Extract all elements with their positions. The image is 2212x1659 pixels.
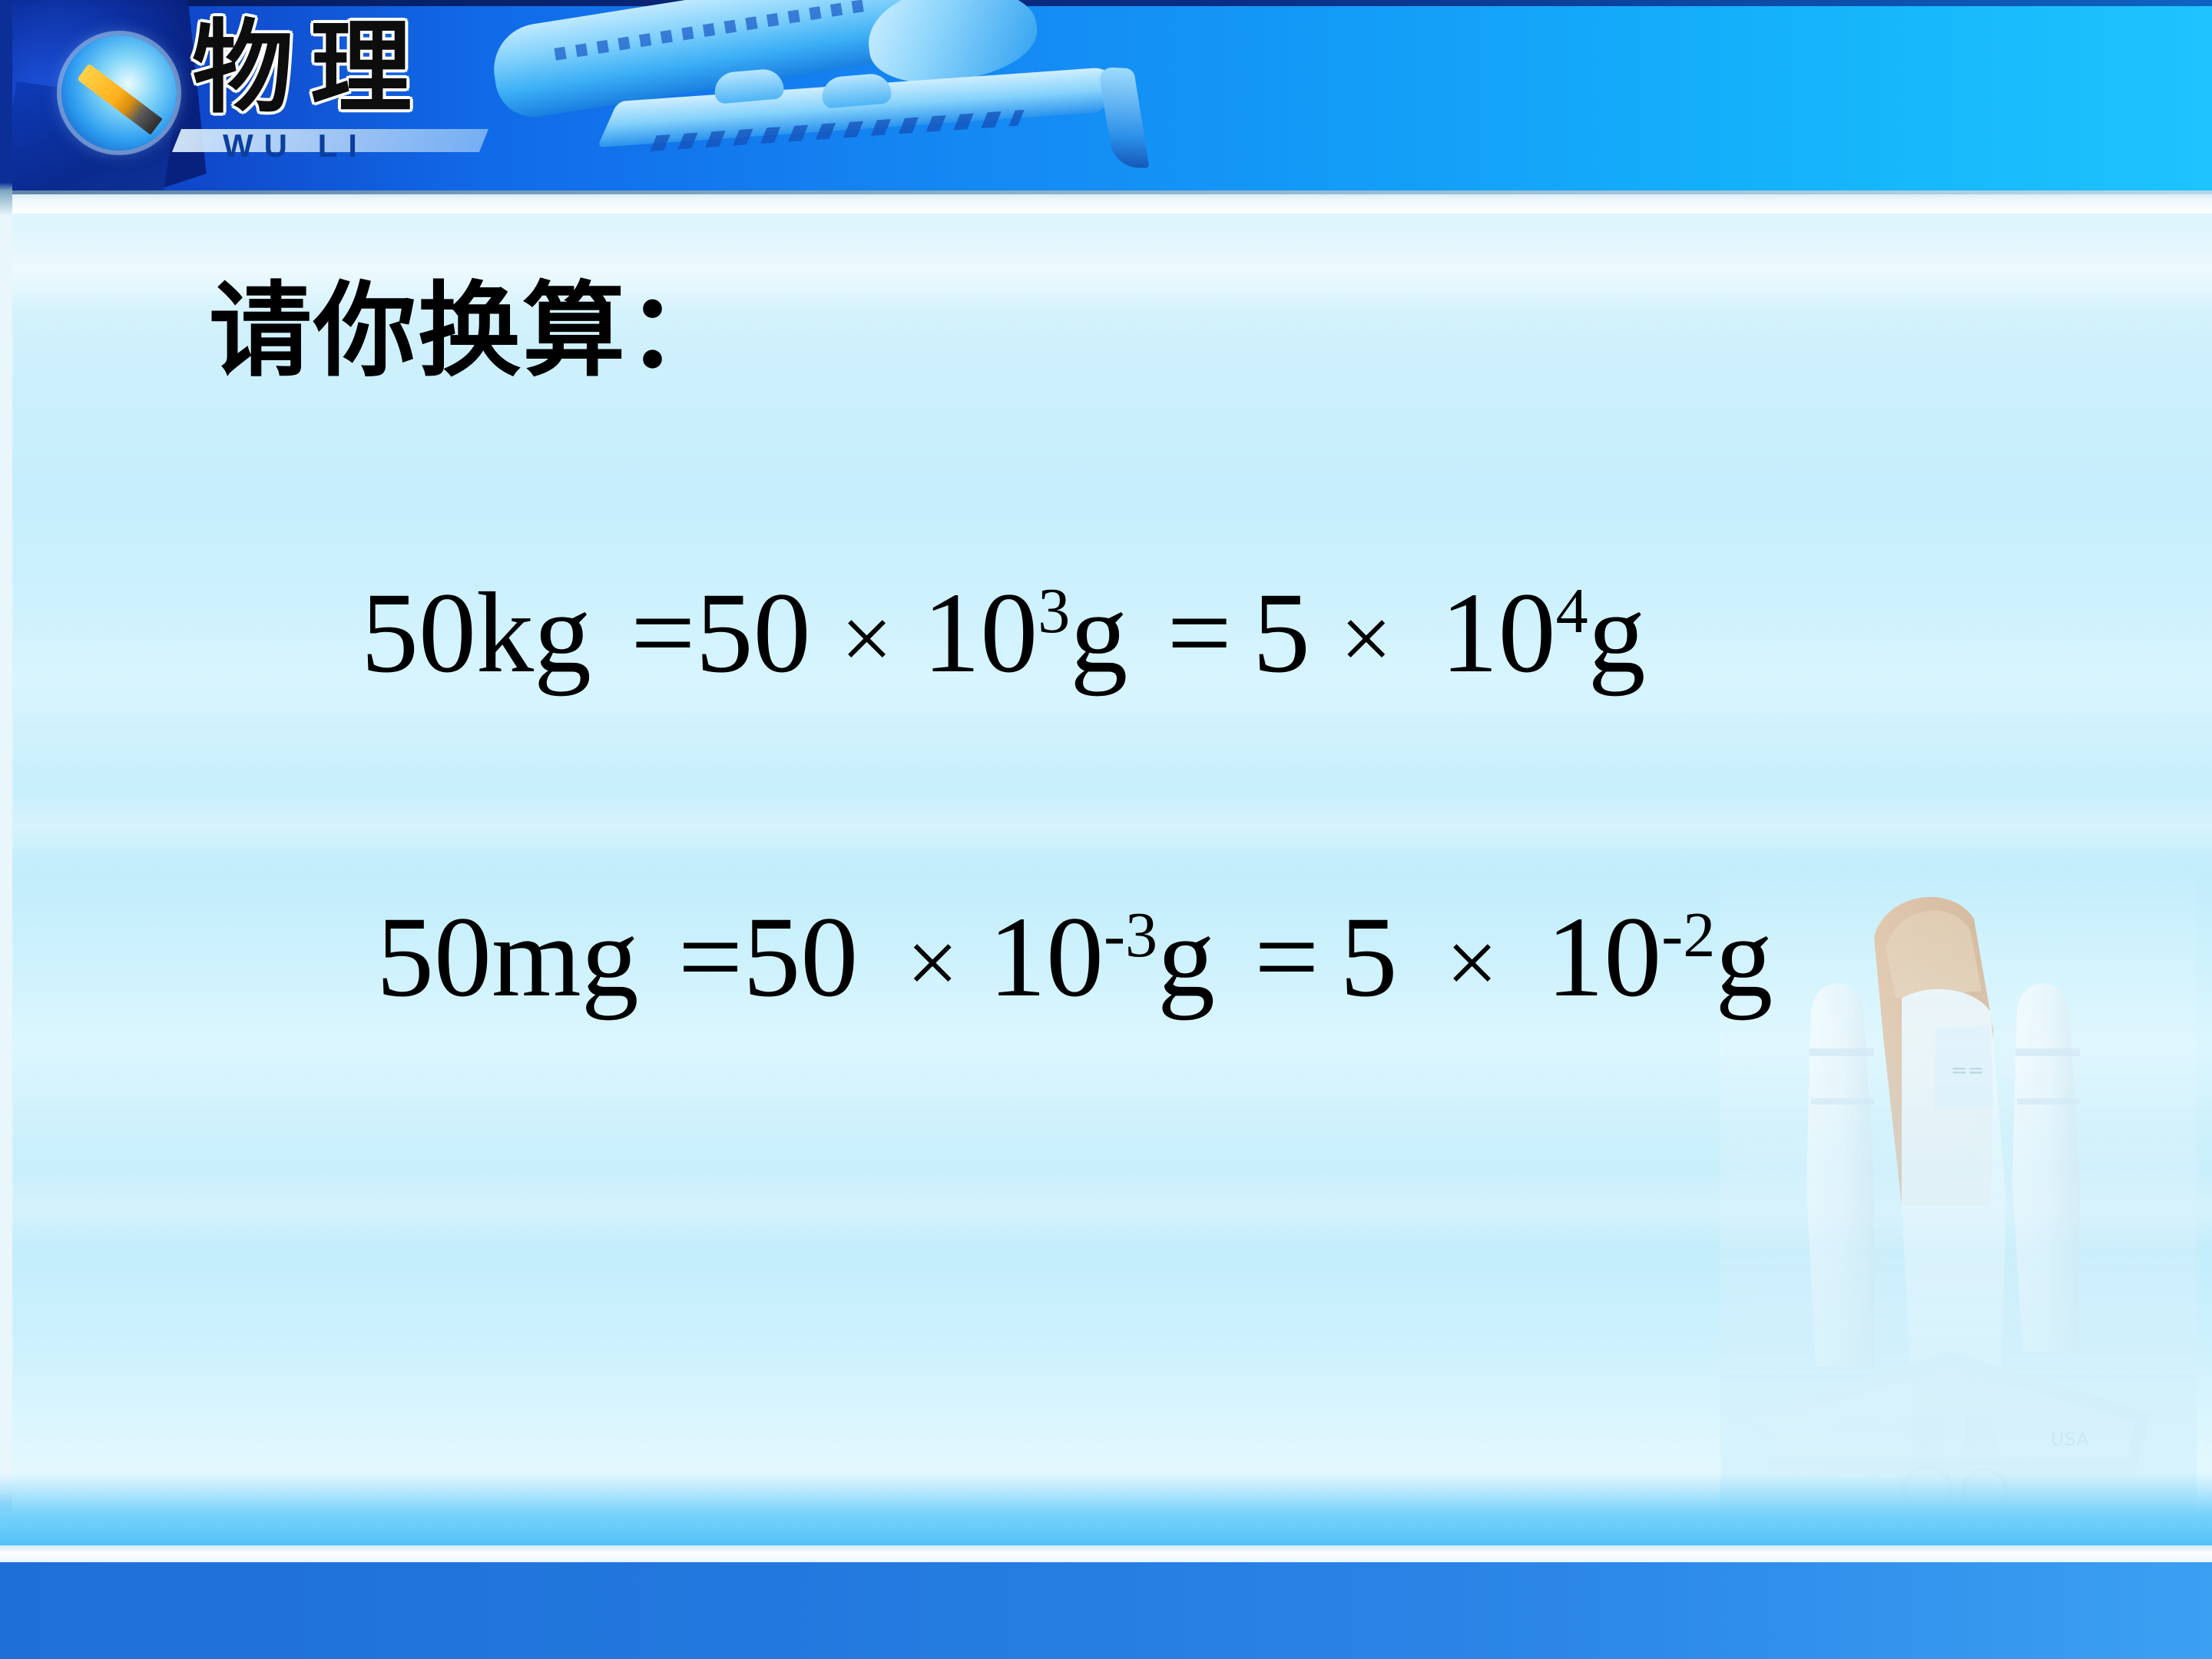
equation-left-unit: mg [492, 893, 639, 1021]
equation-left-value: 50 [376, 893, 492, 1021]
equation-mid-exponent: -3 [1104, 899, 1157, 971]
equation-right-unit: g [1588, 569, 1646, 697]
slide-left-edge-strip [0, 0, 12, 1659]
equation-left-value: 50 [361, 569, 476, 697]
slide-content: 请你换算： 50kg=50×103g=5×104g 50mg=50×10-3g=… [0, 0, 2212, 1659]
equation-equals-1: = [678, 893, 743, 1021]
equation-equals-2: = [1254, 893, 1320, 1021]
equation-right-base: 10 [1546, 893, 1661, 1021]
footer-divider-line [0, 1545, 2212, 1562]
multiplication-sign: × [1437, 915, 1508, 1012]
footer-glow-band [0, 1473, 2212, 1547]
equation-left-unit: kg [476, 569, 591, 697]
equation-right-unit: g [1715, 893, 1773, 1021]
equation-mid-base: 10 [922, 569, 1038, 697]
equation-mid-base: 10 [988, 893, 1104, 1021]
equation-right-exponent: -2 [1661, 899, 1715, 971]
equation-mid-exponent: 3 [1038, 575, 1070, 647]
equation-right-coefficient: 5 [1253, 569, 1310, 697]
equation-mid-coefficient: 50 [696, 569, 811, 697]
page-title: 请你换算： [209, 275, 731, 388]
equation-row-kg: 50kg=50×103g=5×104g [361, 573, 1646, 694]
equation-row-mg: 50mg=50×10-3g=5×10-2g [376, 897, 1773, 1018]
equation-equals-2: = [1167, 569, 1232, 697]
equation-equals-1: = [631, 569, 696, 697]
equation-mid-coefficient: 50 [743, 893, 858, 1021]
equation-right-exponent: 4 [1556, 575, 1588, 647]
multiplication-sign: × [832, 591, 902, 687]
equation-right-coefficient: 5 [1340, 893, 1398, 1021]
equation-mid-unit: g [1070, 569, 1128, 697]
slide-footer-band [0, 1562, 2212, 1659]
multiplication-sign: × [1331, 591, 1402, 687]
equation-mid-unit: g [1157, 893, 1215, 1021]
presentation-slide: == USA 物理 [0, 0, 2212, 1659]
multiplication-sign: × [897, 915, 968, 1012]
equation-right-base: 10 [1441, 569, 1556, 697]
